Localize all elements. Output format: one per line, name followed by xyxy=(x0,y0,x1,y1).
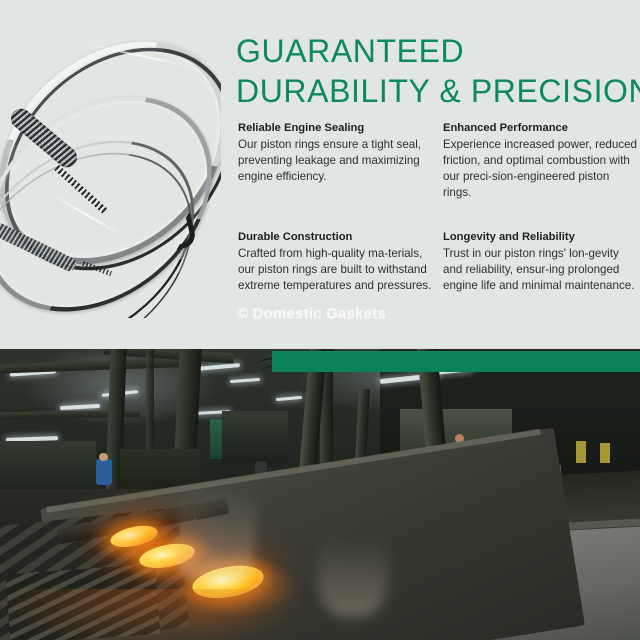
heat-smoke-plume xyxy=(174,466,259,581)
factory-photo: 15 xyxy=(0,349,640,640)
product-image-piston-rings xyxy=(0,18,221,318)
feature-item-enhanced-performance: Enhanced Performance Experience increase… xyxy=(443,120,640,201)
worker-figure xyxy=(96,459,112,485)
feature-body: Our piston rings ensure a tight seal, pr… xyxy=(238,137,437,185)
banner-top-panel: GUARANTEED DURABILITY & PRECISION Reliab… xyxy=(0,0,640,349)
feature-grid: Reliable Engine Sealing Our piston rings… xyxy=(238,120,634,294)
feature-body: Experience increased power, reduced fric… xyxy=(443,137,640,201)
feature-item-reliable-engine-sealing: Reliable Engine Sealing Our piston rings… xyxy=(238,120,437,201)
heat-smoke-plume xyxy=(318,525,388,617)
worker-head xyxy=(99,453,108,461)
page-title-line-2: DURABILITY & PRECISION xyxy=(236,72,634,112)
feature-item-durable-construction: Durable Construction Crafted from high-q… xyxy=(238,201,437,294)
green-accent-bar xyxy=(272,351,640,372)
feature-body: Crafted from high-quality ma-terials, ou… xyxy=(238,246,437,294)
feature-title: Longevity and Reliability xyxy=(443,229,640,245)
feature-title: Enhanced Performance xyxy=(443,120,640,136)
feature-title: Durable Construction xyxy=(238,229,437,245)
page-title-line-1: GUARANTEED xyxy=(236,32,634,72)
page-title: GUARANTEED DURABILITY & PRECISION xyxy=(236,32,634,111)
feature-body: Trust in our piston rings' lon-gevity an… xyxy=(443,246,640,294)
heat-reflection xyxy=(0,589,300,640)
feature-title: Reliable Engine Sealing xyxy=(238,120,437,136)
feature-item-longevity-and-reliability: Longevity and Reliability Trust in our p… xyxy=(443,201,640,294)
factory-machinery xyxy=(222,411,288,463)
yellow-post xyxy=(576,441,586,463)
piston-ring-stack xyxy=(0,18,221,318)
yellow-post xyxy=(600,443,610,463)
watermark: © Domestic Gaskets xyxy=(237,305,437,322)
